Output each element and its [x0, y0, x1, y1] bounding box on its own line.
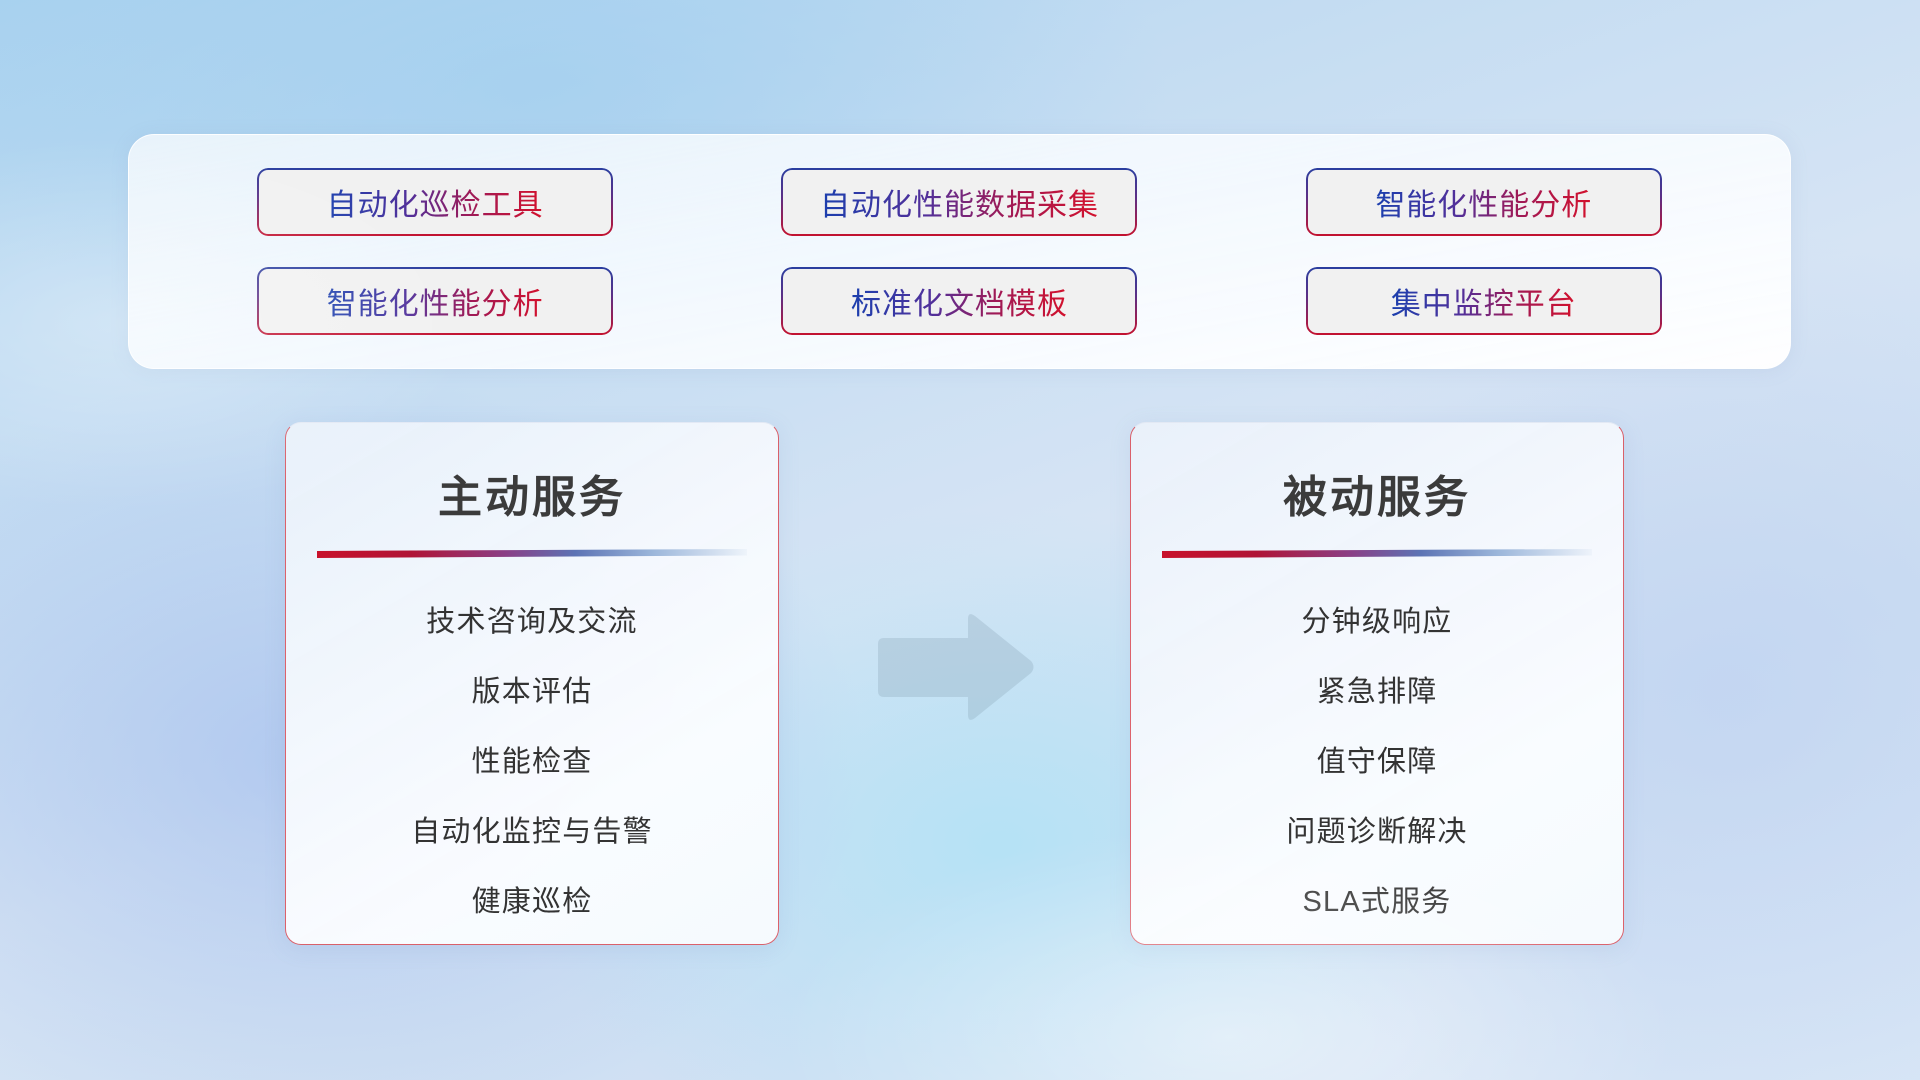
list-item: SLA式服务 [1302, 878, 1451, 920]
capability-tag-1[interactable]: 自动化巡检工具 [257, 168, 613, 236]
capability-tag-6[interactable]: 集中监控平台 [1306, 267, 1662, 335]
capability-tag-5[interactable]: 标准化文档模板 [781, 267, 1137, 335]
capability-tag-label: 集中监控平台 [1391, 279, 1577, 323]
capability-tag-label: 智能化性能分析 [1375, 180, 1592, 224]
list-item: 健康巡检 [472, 878, 593, 920]
service-list: 分钟级响应 紧急排障 值守保障 问题诊断解决 SLA式服务 [1131, 598, 1623, 920]
list-item: 问题诊断解决 [1286, 808, 1467, 850]
card-divider [317, 549, 747, 558]
capability-tag-2[interactable]: 自动化性能数据采集 [781, 168, 1137, 236]
card-divider [1162, 549, 1592, 558]
list-item: 技术咨询及交流 [426, 598, 637, 640]
divider-bar [317, 549, 747, 558]
list-item: 自动化监控与告警 [411, 808, 653, 850]
card-title: 主动服务 [286, 461, 778, 525]
list-item: 值守保障 [1317, 738, 1438, 780]
capability-tag-label: 标准化文档模板 [851, 279, 1068, 323]
list-item: 性能检查 [472, 738, 593, 780]
service-card-proactive[interactable]: 主动服务 技术咨询及交流 版本评估 性能检查 自动化监控与告警 健康巡检 [285, 422, 779, 945]
capability-tag-label: 自动化性能数据采集 [820, 180, 1099, 224]
capability-tag-3[interactable]: 智能化性能分析 [1306, 168, 1662, 236]
capabilities-panel: 自动化巡检工具 自动化性能数据采集 智能化性能分析 智能化性能分析 标准化文档模… [128, 134, 1791, 369]
list-item: 紧急排障 [1317, 668, 1438, 710]
service-list: 技术咨询及交流 版本评估 性能检查 自动化监控与告警 健康巡检 [286, 598, 778, 920]
service-card-reactive[interactable]: 被动服务 分钟级响应 紧急排障 值守保障 问题诊断解决 SLA式服务 [1130, 422, 1624, 945]
capability-tag-label: 智能化性能分析 [327, 279, 544, 323]
capability-tag-label: 自动化巡检工具 [327, 180, 544, 224]
slide-canvas: 自动化巡检工具 自动化性能数据采集 智能化性能分析 智能化性能分析 标准化文档模… [0, 0, 1920, 1080]
divider-bar [1162, 549, 1592, 558]
list-item: 分钟级响应 [1301, 598, 1452, 640]
capability-tag-4[interactable]: 智能化性能分析 [257, 267, 613, 335]
arrow-right-icon [872, 610, 1037, 725]
list-item: 版本评估 [472, 668, 593, 710]
card-title: 被动服务 [1131, 461, 1623, 525]
